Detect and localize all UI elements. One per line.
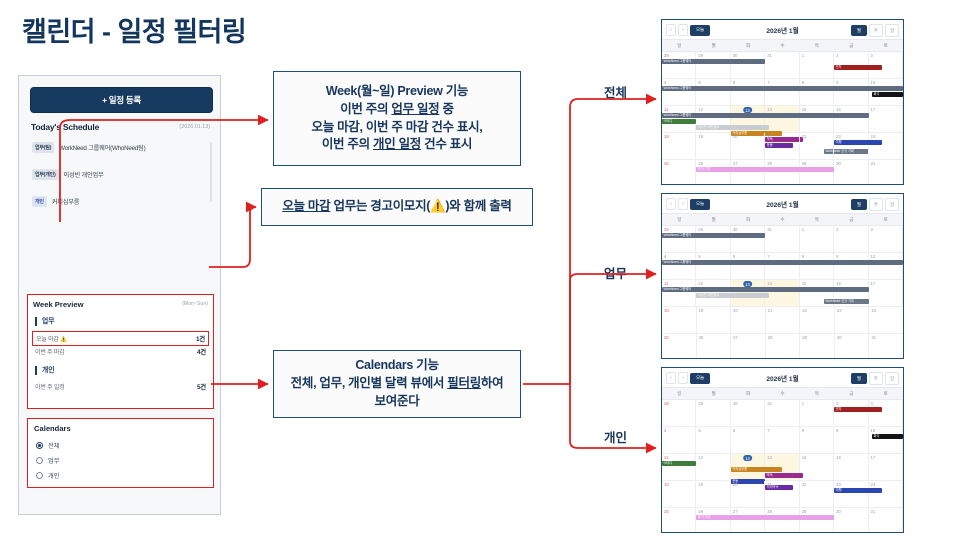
today-schedule-date: (2026.01.13) [179, 124, 210, 130]
day-number: 29 [802, 335, 807, 340]
calendar-day-cell[interactable]: 21 [765, 133, 799, 159]
day-number: 4 [664, 254, 666, 259]
calendar-week-row: 25262728293031휴가 기간 [662, 508, 903, 533]
callout-warning-emoji: 오늘 마감 업무는 경고이모지(⚠️)와 함께 출력 [261, 188, 533, 226]
day-number: 5 [698, 428, 700, 433]
calendar-thumbnail-work[interactable]: ‹›오늘2026년 1월월주일일월화수목금토28293031123WorkNee… [661, 193, 904, 359]
radio-icon[interactable] [36, 442, 43, 449]
callout-line: 전체, 업무, 개인별 달력 뷰에서 필터링하여 [291, 375, 504, 393]
calendar-event-personal[interactable]: 여행 [834, 488, 882, 493]
day-number: 25 [664, 161, 669, 166]
calendar-day-cell[interactable]: 22 [800, 481, 834, 507]
warning-icon: ⚠️ [60, 337, 67, 343]
calendar-day-cell[interactable]: 27 [731, 334, 766, 359]
day-number: 8 [802, 254, 804, 259]
calendar-day-cell[interactable]: 17 [869, 280, 903, 306]
day-number: 23 [836, 134, 841, 139]
calendar-event-work[interactable]: WorkNeed 그룹웨어 [662, 287, 869, 292]
calendar-day-cell[interactable]: 31 [869, 508, 903, 533]
calendar-week-row: 28293031123연차 [662, 400, 903, 427]
calendar-day-cell[interactable]: 30 [731, 226, 765, 252]
calendar-day-cell[interactable]: 19 [697, 307, 732, 333]
calendar-day-cell[interactable]: 30 [835, 334, 870, 359]
week-group-personal-label: 개인 [35, 366, 55, 375]
calendar-day-cell[interactable]: 14 [765, 106, 799, 132]
callout-line: 이번 주의 개인 일정 건수 표시 [322, 136, 472, 154]
arrow-label-work: 업무 [604, 263, 627, 282]
dow-cell: 수 [765, 388, 799, 399]
calendar-event-personal[interactable]: 스터디 [662, 119, 696, 124]
calendar-day-cell[interactable]: 20 [731, 481, 765, 507]
calendar-day-cell[interactable]: 31 [765, 52, 799, 78]
day-number: 2 [836, 53, 838, 58]
schedule-title: 커피심부름 [52, 197, 79, 206]
week-preview-card: Week Preview (Mon~Sun) 업무 오늘 마감 ⚠️ 1건 이번… [27, 294, 214, 409]
calendar-day-cell[interactable]: 2 [834, 226, 868, 252]
schedule-tag: 업무(개인) [32, 169, 59, 180]
day-number: 1 [802, 227, 804, 232]
calendar-day-cell[interactable]: 30 [731, 52, 765, 78]
day-number: 2 [836, 401, 838, 406]
calendar-day-cell[interactable]: 24 [869, 133, 903, 159]
calendar-day-cell[interactable]: 31 [765, 226, 799, 252]
dow-cell: 목 [800, 214, 834, 225]
day-number: 21 [767, 134, 772, 139]
calendar-event-work[interactable]: WorkNeed 그룹웨어 [662, 260, 903, 265]
calendar-event-work[interactable]: 이성빈 개인업무 [696, 125, 768, 130]
calendar-day-cell[interactable]: 9 [834, 79, 868, 105]
day-number: 6 [733, 80, 735, 85]
day-number: 30 [733, 227, 738, 232]
calendar-day-cell[interactable]: 16 [834, 454, 868, 480]
dow-cell: 일 [662, 40, 696, 51]
day-number: 12 [698, 281, 703, 286]
day-number: 13 [743, 455, 753, 461]
day-number: 18 [664, 482, 669, 487]
calendar-filter-label: 개인 [48, 471, 59, 480]
calendar-day-cell[interactable]: 30 [834, 508, 868, 533]
calendar-view-switch: 월주일 [851, 24, 899, 37]
day-number: 26 [699, 335, 704, 340]
slide-canvas: 캘린더 - 일정 필터링 + 일정 등록 Today's Schedule (2… [0, 0, 960, 540]
calendar-day-cell[interactable]: 24 [869, 481, 903, 507]
calendar-day-cell[interactable]: 25 [662, 508, 696, 533]
day-number: 22 [802, 134, 807, 139]
calendar-day-cell[interactable]: 4 [662, 79, 696, 105]
calendar-event-personal[interactable]: 여행 [834, 140, 882, 145]
calendar-day-cell[interactable]: 18 [662, 133, 696, 159]
calendar-day-cell[interactable]: 7 [765, 427, 799, 453]
calendar-day-cell[interactable]: 6 [731, 253, 765, 279]
calendar-event-work[interactable]: 이성빈 개인업무 [696, 293, 768, 298]
day-number: 3 [871, 53, 873, 58]
calendar-day-cell[interactable]: 17 [869, 106, 903, 132]
day-number: 27 [733, 509, 738, 514]
day-number: 27 [733, 161, 738, 166]
week-row-due-this-week[interactable]: 이번 주 마감 4건 [35, 347, 206, 356]
calendar-day-cell[interactable]: 3 [869, 400, 903, 426]
day-number: 11 [664, 107, 668, 112]
dow-cell: 목 [800, 40, 834, 51]
day-number: 10 [871, 80, 876, 85]
week-preview-range: (Mon~Sun) [182, 301, 208, 307]
calendar-day-cell[interactable]: 28 [662, 52, 696, 78]
calendar-thumbnail-all[interactable]: ‹›오늘2026년 1월월주일일월화수목금토28293031123WorkNee… [661, 19, 904, 185]
calendar-day-cell[interactable]: 8 [800, 253, 834, 279]
view-month-button[interactable]: 월 [851, 373, 867, 384]
day-number: 19 [699, 308, 704, 313]
calendar-day-cell[interactable]: 6 [731, 79, 765, 105]
calendar-day-cell[interactable]: 5 [696, 427, 730, 453]
day-number: 29 [802, 509, 807, 514]
day-number: 24 [871, 134, 876, 139]
calendar-week-row: 45678910WorkNeed 그룹웨어 [662, 253, 903, 280]
dow-cell: 목 [800, 388, 834, 399]
calendar-week-row: 45678910회식 [662, 427, 903, 454]
calendar-week-row: 28293031123WorkNeed 그룹웨어 [662, 226, 903, 253]
calendar-view-switch: 월주일 [851, 198, 899, 211]
day-number: 12 [698, 455, 703, 460]
calendar-dow-header: 일월화수목금토 [662, 214, 903, 226]
calendar-day-cell[interactable]: 9 [834, 427, 868, 453]
day-number: 10 [871, 254, 876, 259]
calendar-day-cell[interactable]: 11 [662, 454, 696, 480]
week-row-label: 이번 주 일정 [35, 382, 65, 391]
calendar-day-cell[interactable]: 2 [834, 400, 868, 426]
dow-cell: 토 [869, 40, 903, 51]
calendar-day-cell[interactable]: 27 [731, 160, 765, 185]
calendar-day-cell[interactable]: 23 [834, 133, 868, 159]
calendar-event-personal[interactable]: 휴가 기간 [696, 167, 834, 172]
list-item[interactable]: 업무(개인) 이성빈 개인업무 [32, 169, 209, 180]
calendar-day-cell[interactable]: 17 [869, 454, 903, 480]
calendar-day-cell[interactable]: 29 [800, 508, 834, 533]
day-number: 15 [802, 455, 807, 460]
calendar-toolbar: ‹›오늘2026년 1월월주일 [662, 368, 903, 388]
day-number: 29 [802, 161, 807, 166]
calendar-grid-work: 28293031123WorkNeed 그룹웨어45678910WorkNeed… [662, 226, 903, 359]
calendar-day-cell[interactable]: 7 [765, 79, 799, 105]
calendar-day-cell[interactable]: 4 [662, 253, 696, 279]
calendar-day-cell[interactable]: 28 [765, 160, 799, 185]
calendar-day-cell[interactable]: 18 [662, 481, 696, 507]
day-number: 28 [767, 509, 772, 514]
day-number: 16 [836, 107, 841, 112]
radio-icon[interactable] [36, 457, 43, 464]
add-schedule-button[interactable]: + 일정 등록 [30, 87, 213, 113]
day-number: 8 [802, 428, 804, 433]
calendar-day-cell[interactable]: 19 [696, 133, 730, 159]
calendar-week-row: 25262728293031 [662, 334, 903, 359]
calendar-day-cell[interactable]: 3 [869, 226, 903, 252]
calendar-week-row: 25262728293031휴가 기간 [662, 160, 903, 185]
calendar-day-cell[interactable]: 28 [662, 400, 696, 426]
calendar-day-cell[interactable]: 26 [696, 160, 730, 185]
calendar-day-cell[interactable]: 25 [662, 334, 697, 359]
calendar-day-cell[interactable]: 15 [800, 454, 834, 480]
calendar-filter-all[interactable]: 전체 [36, 441, 59, 450]
calendar-filter-work[interactable]: 업무 [36, 456, 59, 465]
day-number: 3 [871, 401, 873, 406]
dow-cell: 화 [731, 388, 765, 399]
calendar-day-cell[interactable]: 12 [696, 454, 730, 480]
view-week-button[interactable]: 주 [869, 198, 883, 211]
day-number: 29 [698, 401, 703, 406]
calendar-day-cell[interactable]: 16 [834, 106, 868, 132]
callout-line: Week(월~일) Preview 기능 [326, 83, 468, 101]
week-row-count: 5건 [197, 382, 206, 391]
day-number: 1 [802, 401, 804, 406]
calendar-dow-header: 일월화수목금토 [662, 40, 903, 52]
week-row-count: 4건 [197, 347, 206, 356]
day-number: 31 [871, 335, 876, 340]
day-number: 6 [733, 254, 735, 259]
day-number: 28 [664, 53, 669, 58]
calendar-day-cell[interactable]: 28 [765, 508, 799, 533]
calendar-day-cell[interactable]: 30 [834, 160, 868, 185]
week-row-label: 오늘 마감 ⚠️ [36, 334, 67, 343]
calendar-week-row: 11121314151617WorkNeed 그룹웨어이성빈 개인업무WorkN… [662, 280, 903, 307]
calendar-day-cell[interactable]: 7 [765, 253, 799, 279]
day-number: 25 [664, 335, 669, 340]
calendar-event-personal[interactable]: 연차 [834, 65, 882, 70]
day-number: 18 [664, 134, 669, 139]
calendar-day-cell[interactable]: 14 [765, 280, 799, 306]
week-preview-heading: Week Preview [33, 300, 84, 309]
day-number: 7 [767, 80, 769, 85]
calendar-day-cell[interactable]: 11 [662, 280, 696, 306]
view-day-button[interactable]: 일 [885, 24, 899, 37]
day-number: 24 [871, 308, 876, 313]
day-number: 14 [767, 281, 772, 286]
calendar-day-cell[interactable]: 23 [835, 307, 870, 333]
dow-cell: 월 [696, 40, 730, 51]
day-number: 4 [664, 80, 666, 85]
dow-cell: 토 [869, 214, 903, 225]
calendar-toolbar: ‹›오늘2026년 1월월주일 [662, 20, 903, 40]
calendar-day-cell[interactable]: 20 [731, 307, 766, 333]
day-number: 31 [871, 509, 876, 514]
calendar-day-cell[interactable]: 4 [662, 427, 696, 453]
day-number: 26 [698, 161, 703, 166]
calendar-day-cell[interactable]: 22 [800, 307, 835, 333]
week-group-work-label: 업무 [35, 317, 55, 326]
calendar-day-cell[interactable]: 25 [662, 160, 696, 185]
dow-cell: 일 [662, 214, 696, 225]
day-number: 30 [836, 161, 841, 166]
calendar-day-cell[interactable]: 10 [869, 427, 903, 453]
today-schedule-scrollbar[interactable] [210, 142, 212, 202]
day-number: 9 [836, 428, 838, 433]
day-number: 11 [664, 455, 668, 460]
day-number: 20 [733, 482, 738, 487]
day-number: 29 [698, 53, 703, 58]
list-item[interactable]: 개인 커피심부름 [32, 196, 209, 207]
calendar-day-cell[interactable]: 29 [696, 400, 730, 426]
day-number: 17 [871, 455, 876, 460]
week-row-personal-this-week[interactable]: 이번 주 일정 5건 [35, 382, 206, 391]
day-number: 16 [836, 455, 841, 460]
day-number: 28 [767, 161, 772, 166]
day-number: 22 [802, 308, 807, 313]
day-number: 21 [767, 482, 772, 487]
week-row-count: 1건 [196, 334, 205, 343]
calendar-day-cell[interactable]: 29 [800, 160, 834, 185]
view-day-button[interactable]: 일 [885, 198, 899, 211]
day-number: 4 [664, 428, 666, 433]
calendar-event-work[interactable]: WorkNeed 신규 기획 [824, 299, 869, 304]
day-number: 8 [802, 80, 804, 85]
arrow-label-all: 전체 [604, 82, 627, 101]
calendar-filter-label: 업무 [48, 456, 59, 465]
calendar-day-cell[interactable]: 28 [662, 226, 696, 252]
day-number: 30 [733, 53, 738, 58]
calendar-week-row: 11121314151617WorkNeed 그룹웨어스터디이성빈 개인업무커피… [662, 106, 903, 133]
day-number: 19 [698, 482, 703, 487]
calendar-day-cell[interactable]: 1 [800, 52, 834, 78]
day-number: 27 [733, 335, 738, 340]
day-number: 6 [733, 428, 735, 433]
today-schedule-heading: Today's Schedule [31, 122, 99, 132]
day-number: 7 [767, 254, 769, 259]
app-mock-panel: + 일정 등록 Today's Schedule (2026.01.13) 업무… [18, 75, 221, 515]
calendar-day-cell[interactable]: 29 [696, 52, 730, 78]
list-item[interactable]: 업무(팀) WorkNeed 그룹웨어(WhoNeed팀) [32, 142, 209, 153]
day-number: 10 [871, 428, 876, 433]
day-number: 5 [698, 254, 700, 259]
calendar-day-cell[interactable]: 31 [869, 334, 903, 359]
calendar-day-cell[interactable]: 27 [731, 508, 765, 533]
calendar-event-personal[interactable]: 커피심부름 [731, 467, 783, 472]
calendar-day-cell[interactable]: 29 [696, 226, 730, 252]
calendar-filter-personal[interactable]: 개인 [36, 471, 59, 480]
calendar-day-cell[interactable]: 22 [800, 133, 834, 159]
day-number: 17 [871, 281, 876, 286]
day-number: 31 [767, 53, 772, 58]
calendar-day-cell[interactable]: 6 [731, 427, 765, 453]
dow-cell: 월 [696, 214, 730, 225]
dow-cell: 금 [834, 388, 868, 399]
calendar-day-cell[interactable]: 8 [800, 79, 834, 105]
calendar-event-personal[interactable]: 연차 [834, 407, 882, 412]
day-number: 5 [698, 80, 700, 85]
calendar-day-cell[interactable]: 5 [696, 79, 730, 105]
callout-week-preview: Week(월~일) Preview 기능 이번 주의 업무 일정 중 오늘 마감… [273, 71, 521, 166]
day-number: 28 [768, 335, 773, 340]
calendar-event-work[interactable]: WorkNeed 그룹웨어 [662, 113, 869, 118]
day-number: 23 [837, 308, 842, 313]
day-number: 23 [836, 482, 841, 487]
view-day-button[interactable]: 일 [885, 372, 899, 385]
view-week-button[interactable]: 주 [869, 372, 883, 385]
calendar-event-personal[interactable]: 회식 [872, 434, 903, 439]
day-number: 7 [767, 428, 769, 433]
week-row-due-today[interactable]: 오늘 마감 ⚠️ 1건 [32, 331, 209, 346]
dow-cell: 화 [731, 214, 765, 225]
day-number: 18 [664, 308, 669, 313]
calendar-day-cell[interactable]: 5 [696, 253, 730, 279]
calendar-thumbnail-personal[interactable]: ‹›오늘2026년 1월월주일일월화수목금토28293031123연차45678… [661, 367, 904, 533]
day-number: 14 [767, 455, 772, 460]
calendar-day-cell[interactable]: 26 [697, 334, 732, 359]
calendar-day-cell[interactable]: 10 [869, 253, 903, 279]
calendar-day-cell[interactable]: 26 [696, 508, 730, 533]
calendar-event-work[interactable]: WorkNeed 그룹웨어 [662, 86, 903, 91]
schedule-tag: 업무(팀) [32, 142, 54, 153]
day-number: 3 [871, 227, 873, 232]
schedule-title: WorkNeed 그룹웨어(WhoNeed팀) [59, 143, 145, 152]
calendar-day-cell[interactable]: 23 [834, 481, 868, 507]
calendar-day-cell[interactable]: 19 [696, 481, 730, 507]
calendar-day-cell[interactable]: 18 [662, 307, 697, 333]
dow-cell: 일 [662, 388, 696, 399]
view-month-button[interactable]: 월 [851, 199, 867, 210]
day-number: 28 [664, 227, 669, 232]
calendar-day-cell[interactable]: 15 [800, 106, 834, 132]
day-number: 20 [733, 308, 738, 313]
calendar-day-cell[interactable]: 31 [765, 400, 799, 426]
day-number: 15 [802, 281, 807, 286]
calendars-heading: Calendars [34, 424, 71, 433]
calendar-day-cell[interactable]: 8 [800, 427, 834, 453]
calendar-day-cell[interactable]: 30 [731, 400, 765, 426]
day-number: 21 [768, 308, 773, 313]
day-number: 30 [733, 401, 738, 406]
dow-cell: 토 [869, 388, 903, 399]
calendar-day-cell[interactable]: 21 [765, 481, 799, 507]
dow-cell: 금 [834, 40, 868, 51]
calendar-event-work[interactable]: WorkNeed 그룹웨어 [662, 59, 765, 64]
radio-icon[interactable] [36, 472, 43, 479]
day-number: 9 [836, 80, 838, 85]
day-number: 14 [767, 107, 772, 112]
calendar-event-personal[interactable]: 휴가 기간 [696, 515, 834, 520]
calendar-event-work[interactable]: WorkNeed 그룹웨어 [662, 233, 765, 238]
day-number: 31 [871, 161, 876, 166]
calendar-event-personal[interactable]: 스터디 [662, 461, 696, 466]
callout-line: 보여준다 [375, 393, 420, 411]
day-number: 30 [836, 509, 841, 514]
calendar-grid-all: 28293031123WorkNeed 그룹웨어연차45678910WorkNe… [662, 52, 903, 185]
view-month-button[interactable]: 월 [851, 25, 867, 36]
day-number: 26 [698, 509, 703, 514]
calendar-day-cell[interactable]: 31 [869, 160, 903, 185]
day-number: 1 [802, 53, 804, 58]
day-number: 25 [664, 509, 669, 514]
dow-cell: 화 [731, 40, 765, 51]
calendar-day-cell[interactable]: 20 [731, 133, 765, 159]
calendar-week-row: 18192021222324여행 [662, 481, 903, 508]
day-number: 24 [871, 482, 876, 487]
calendar-day-cell[interactable]: 28 [766, 334, 801, 359]
calendar-day-cell[interactable]: 9 [834, 253, 868, 279]
calendar-day-cell[interactable]: 1 [800, 400, 834, 426]
page-title: 캘린더 - 일정 필터링 [22, 10, 246, 49]
calendar-day-cell[interactable]: 21 [766, 307, 801, 333]
calendar-view-switch: 월주일 [851, 372, 899, 385]
calendar-day-cell[interactable]: 29 [800, 334, 835, 359]
dow-cell: 금 [834, 214, 868, 225]
view-week-button[interactable]: 주 [869, 24, 883, 37]
calendar-event-personal[interactable]: 약속 [765, 473, 803, 478]
day-number: 12 [698, 107, 703, 112]
day-number: 22 [802, 482, 807, 487]
callout-line: 오늘 마감, 이번 주 마감 건수 표시, [312, 119, 483, 137]
calendar-day-cell[interactable]: 24 [869, 307, 903, 333]
calendar-day-cell[interactable]: 1 [800, 226, 834, 252]
calendar-week-row: 11121314151617스터디커피심부름약속운동저녁약속 [662, 454, 903, 481]
calendar-event-personal[interactable]: 회식 [872, 92, 903, 97]
